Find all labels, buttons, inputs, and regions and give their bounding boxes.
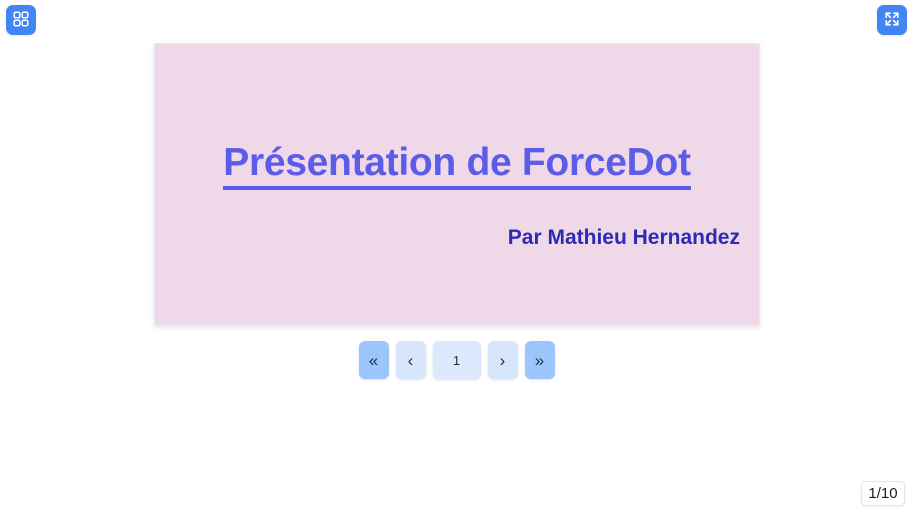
previous-page-button[interactable]: ‹ bbox=[396, 341, 426, 379]
page-counter: 1/10 bbox=[861, 481, 905, 506]
grid-icon bbox=[12, 10, 30, 31]
slide-canvas[interactable]: Présentation de ForceDot Par Mathieu Her… bbox=[154, 43, 760, 326]
grid-view-button[interactable] bbox=[6, 5, 36, 35]
slide-author: Par Mathieu Hernandez bbox=[508, 226, 740, 250]
fullscreen-button[interactable] bbox=[877, 5, 907, 35]
slide-title-text: Présentation de ForceDot bbox=[223, 141, 690, 190]
slide-title: Présentation de ForceDot bbox=[155, 142, 759, 185]
page-number-input[interactable]: 1 bbox=[433, 341, 481, 379]
first-page-button[interactable]: « bbox=[359, 341, 389, 379]
presentation-viewer: Présentation de ForceDot Par Mathieu Her… bbox=[0, 0, 913, 514]
next-page-button[interactable]: › bbox=[488, 341, 518, 379]
expand-icon bbox=[883, 10, 901, 31]
pagination-bar: « ‹ 1 › » bbox=[0, 341, 913, 379]
last-page-button[interactable]: » bbox=[525, 341, 555, 379]
